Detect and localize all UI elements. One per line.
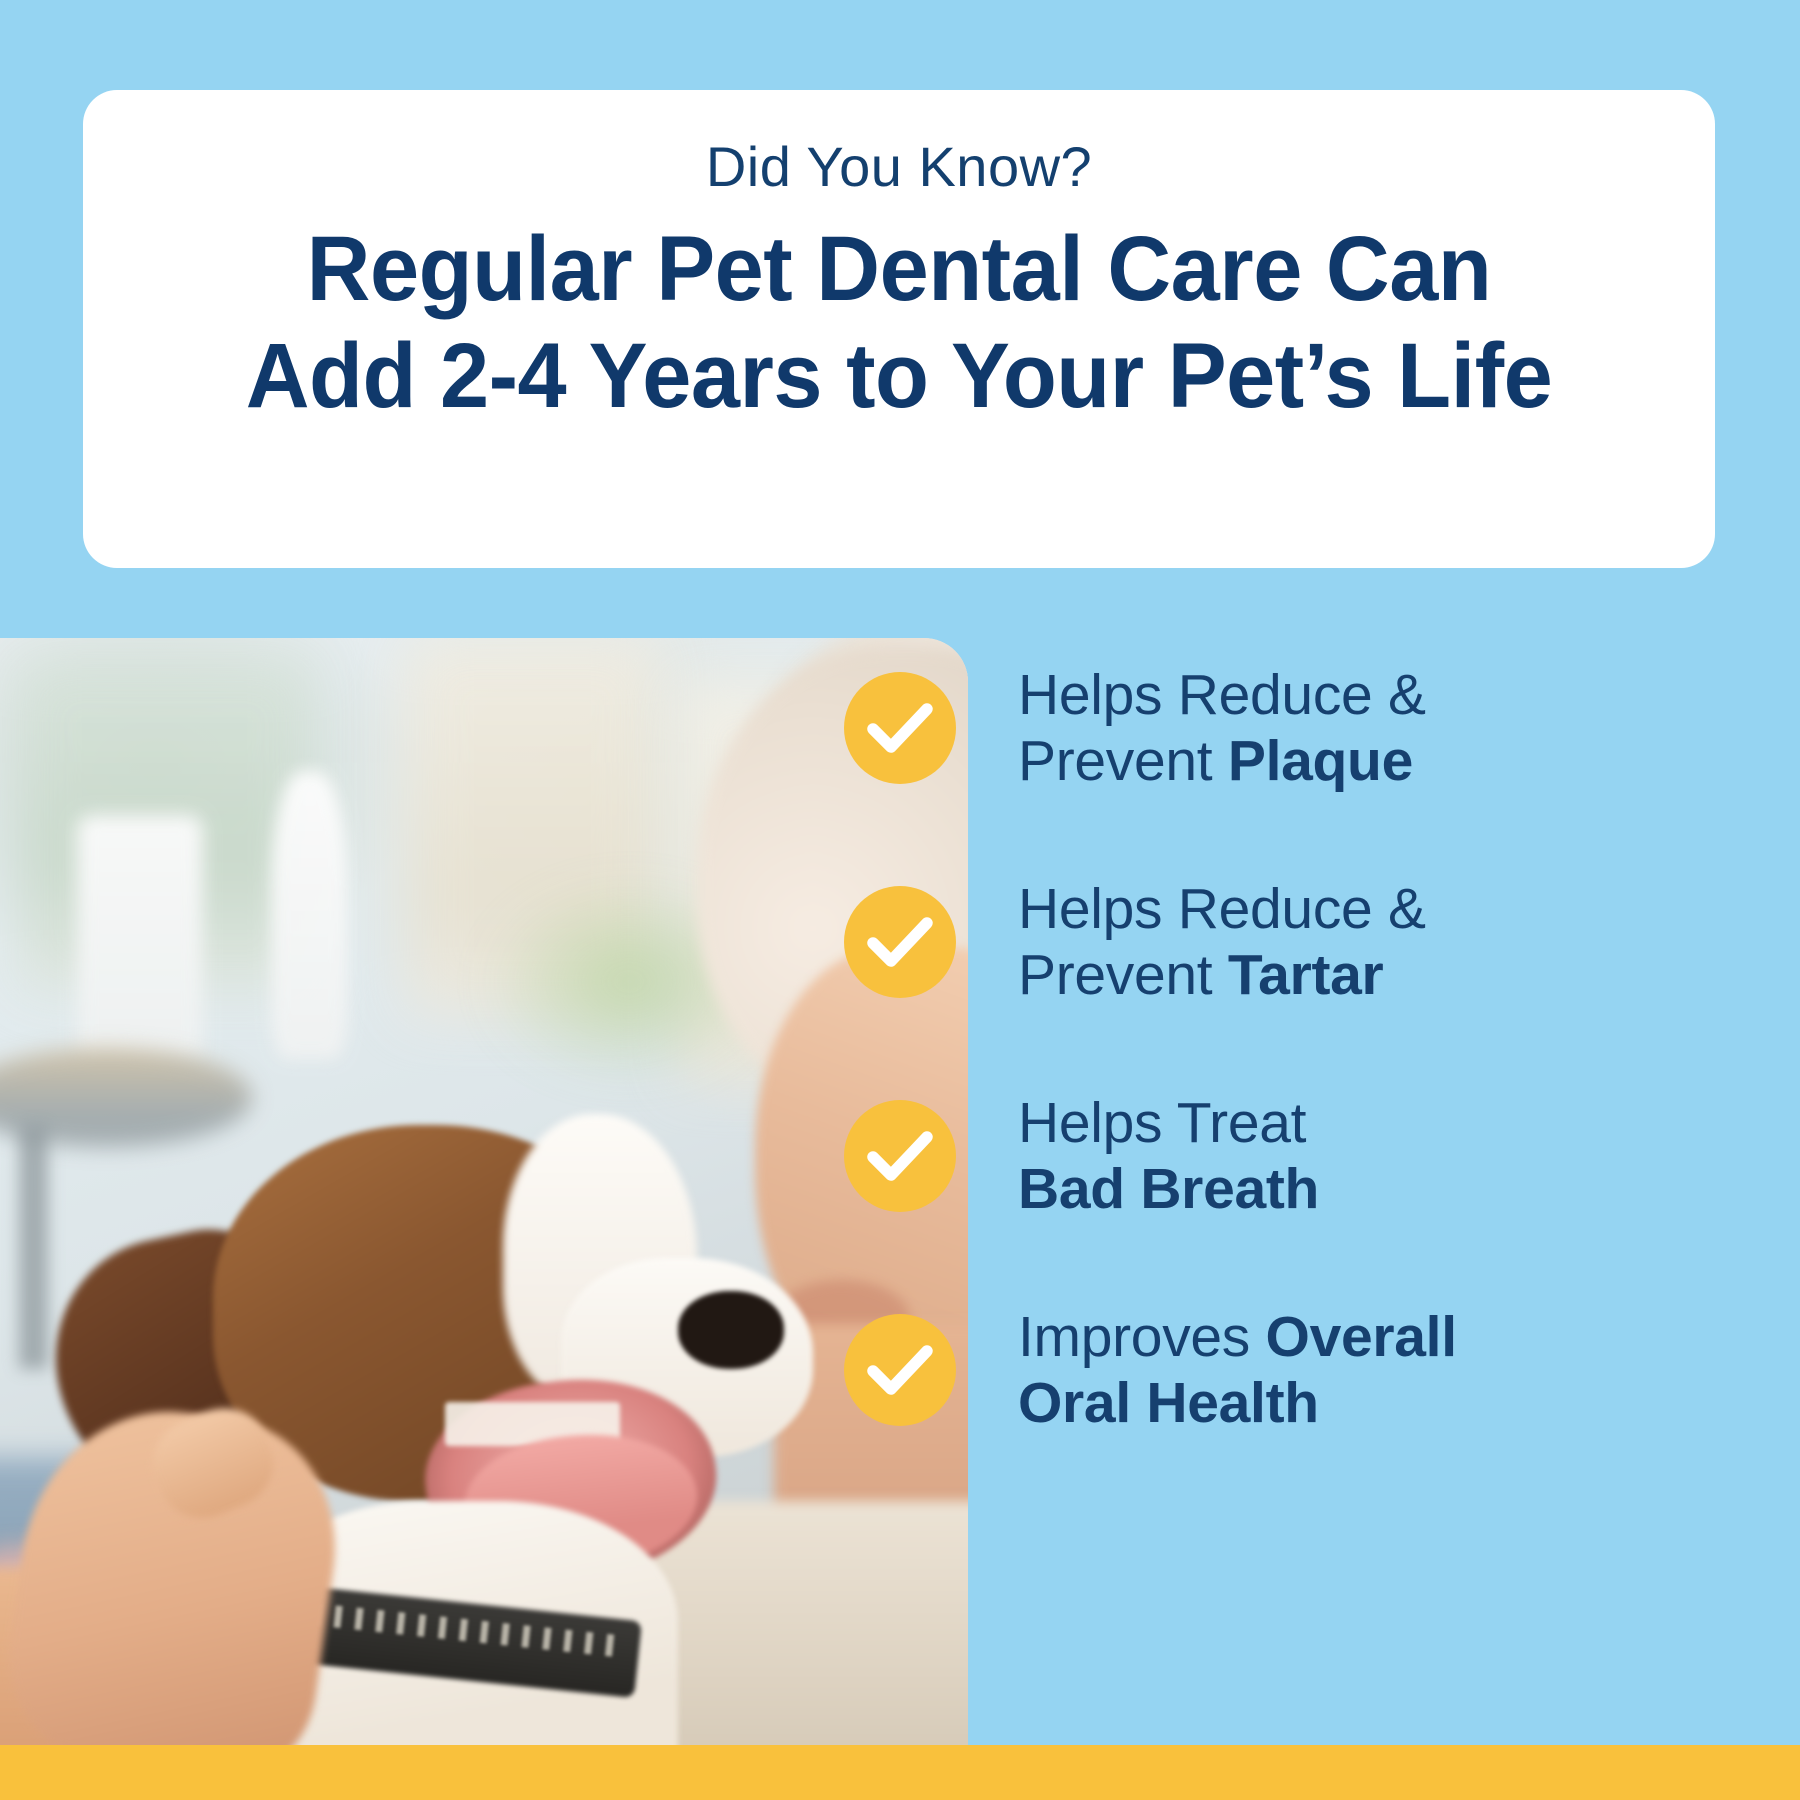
benefit-line-2-plain: Prevent xyxy=(1018,729,1228,793)
check-icon xyxy=(844,672,956,784)
benefit-line-1-plain: Improves xyxy=(1018,1305,1266,1369)
benefits-list: Helps Reduce & Prevent Plaque Helps Redu… xyxy=(900,640,1660,1458)
check-icon xyxy=(844,1100,956,1212)
benefit-label: Helps Reduce & Prevent Plaque xyxy=(1018,662,1426,794)
list-item: Helps Reduce & Prevent Plaque xyxy=(900,640,1660,816)
benefit-line-2-bold: Tartar xyxy=(1228,943,1384,1007)
photo-dog-nose xyxy=(678,1291,784,1368)
bottom-accent-bar xyxy=(0,1745,1800,1800)
benefit-line-2-bold: Oral Health xyxy=(1018,1371,1319,1435)
benefit-label: Helps Treat Bad Breath xyxy=(1018,1090,1319,1222)
headline-line-1: Regular Pet Dental Care Can xyxy=(173,216,1625,324)
benefit-line-1: Helps Reduce & xyxy=(1018,663,1426,727)
infographic-canvas: Did You Know? Regular Pet Dental Care Ca… xyxy=(0,0,1800,1800)
list-item: Helps Treat Bad Breath xyxy=(900,1068,1660,1244)
eyebrow-text: Did You Know? xyxy=(143,136,1655,198)
photo-vase-right xyxy=(271,771,348,1059)
check-icon xyxy=(844,886,956,998)
benefit-line-1: Helps Treat xyxy=(1018,1091,1306,1155)
check-icon xyxy=(844,1314,956,1426)
benefit-line-2-plain: Prevent xyxy=(1018,943,1228,1007)
headline-line-2: Add 2-4 Years to Your Pet’s Life xyxy=(173,323,1625,431)
benefit-line-2-bold: Plaque xyxy=(1228,729,1413,793)
list-item: Helps Reduce & Prevent Tartar xyxy=(900,854,1660,1030)
benefit-line-1: Helps Reduce & xyxy=(1018,877,1426,941)
benefit-label: Improves Overall Oral Health xyxy=(1018,1304,1457,1436)
dog-photo xyxy=(0,638,968,1745)
benefit-line-2-bold: Bad Breath xyxy=(1018,1157,1319,1221)
list-item: Improves Overall Oral Health xyxy=(900,1282,1660,1458)
benefit-line-1-bold: Overall xyxy=(1266,1305,1457,1369)
photo-vase-left xyxy=(77,815,203,1059)
photo-table-leg xyxy=(19,1125,48,1369)
headline-card: Did You Know? Regular Pet Dental Care Ca… xyxy=(83,90,1715,568)
benefit-label: Helps Reduce & Prevent Tartar xyxy=(1018,876,1426,1008)
page-title: Regular Pet Dental Care Can Add 2-4 Year… xyxy=(173,216,1625,431)
